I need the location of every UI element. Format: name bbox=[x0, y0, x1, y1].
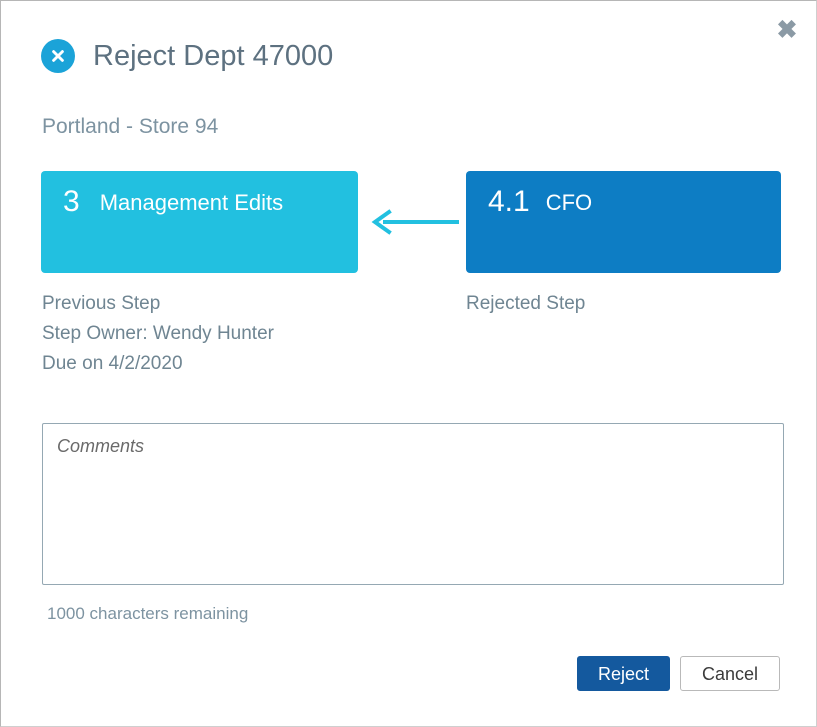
reject-dialog: ✖ Reject Dept 47000 Portland - Store 94 … bbox=[0, 0, 817, 727]
rejected-step-number: 4.1 bbox=[488, 185, 530, 219]
character-counter: 1000 characters remaining bbox=[47, 604, 248, 624]
reject-button[interactable]: Reject bbox=[577, 656, 670, 691]
reject-circle-x-icon bbox=[41, 39, 75, 73]
dialog-header: Reject Dept 47000 bbox=[41, 39, 333, 73]
rejected-step-box[interactable]: 4.1 CFO bbox=[466, 171, 781, 273]
comments-input[interactable] bbox=[42, 423, 784, 585]
rejected-step-caption: Rejected Step bbox=[466, 289, 585, 319]
rejected-step-details: Rejected Step bbox=[466, 289, 585, 319]
previous-step-box[interactable]: 3 Management Edits bbox=[41, 171, 358, 273]
dialog-subtitle: Portland - Store 94 bbox=[42, 115, 218, 139]
previous-step-due-date: Due on 4/2/2020 bbox=[42, 349, 274, 379]
previous-step-owner: Step Owner: Wendy Hunter bbox=[42, 319, 274, 349]
cancel-button[interactable]: Cancel bbox=[680, 656, 780, 691]
workflow-steps: 3 Management Edits 4.1 CFO bbox=[41, 171, 781, 273]
close-icon[interactable]: ✖ bbox=[774, 17, 800, 43]
dialog-footer: Reject Cancel bbox=[577, 656, 780, 691]
previous-step-details: Previous Step Step Owner: Wendy Hunter D… bbox=[42, 289, 274, 379]
arrow-left-icon bbox=[369, 209, 461, 235]
rejected-step-label: CFO bbox=[546, 185, 592, 221]
previous-step-caption: Previous Step bbox=[42, 289, 274, 319]
previous-step-number: 3 bbox=[63, 185, 80, 219]
page-title: Reject Dept 47000 bbox=[93, 40, 333, 73]
previous-step-label: Management Edits bbox=[100, 185, 283, 221]
